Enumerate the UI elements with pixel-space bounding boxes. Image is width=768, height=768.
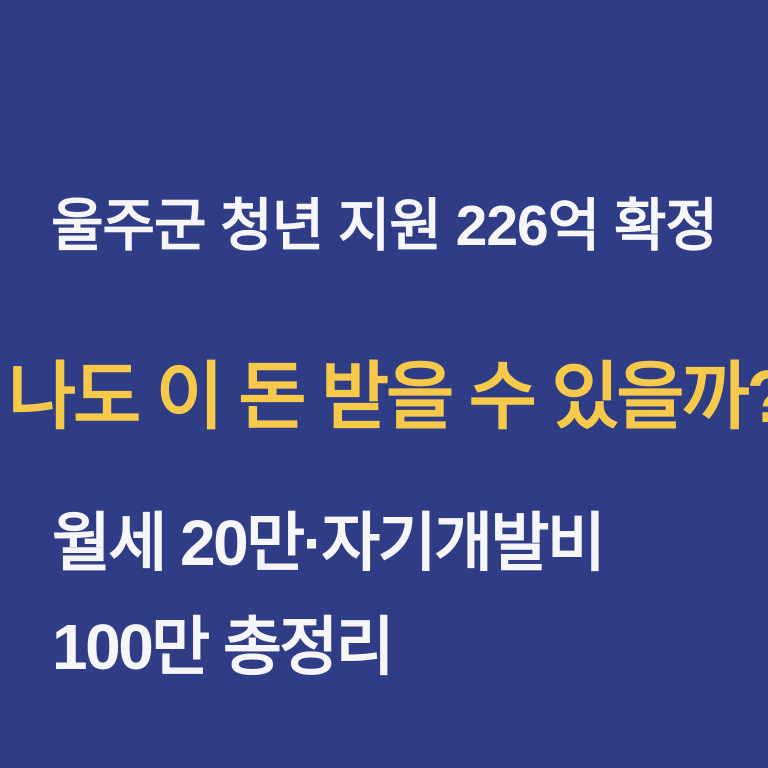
hook-question: 나도 이 돈 받을 수 있을까?: [8, 360, 762, 434]
page-title: 울주군 청년 지원 226억 확정: [0, 198, 768, 255]
detail-line-1: 월세 20만·자기개발비: [52, 492, 752, 596]
detail-block: 월세 20만·자기개발비 100만 총정리: [52, 492, 752, 699]
detail-line-2: 100만 총정리: [52, 596, 752, 700]
promo-card: 울주군 청년 지원 226억 확정 나도 이 돈 받을 수 있을까? 월세 20…: [0, 0, 768, 768]
